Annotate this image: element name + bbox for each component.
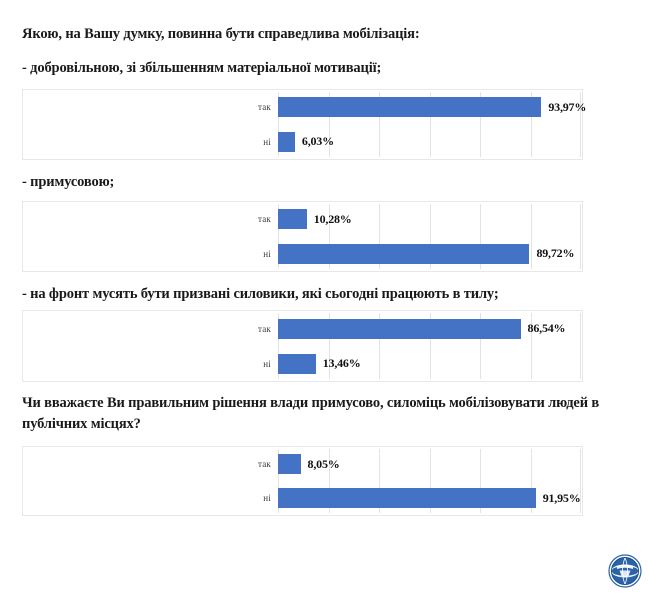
chart-3-bar-track-0: 86,54% — [278, 311, 581, 346]
chart-1: так 93,97% ні 6,03% — [22, 89, 583, 160]
organization-emblem-icon — [608, 554, 642, 588]
chart-3: так 86,54% ні 13,46% — [22, 310, 583, 382]
chart-2-value-1: 89,72% — [536, 246, 574, 261]
table-row: ні 6,03% — [23, 125, 582, 160]
table-row: ні 13,46% — [23, 346, 582, 381]
page-title: Якою, на Вашу думку, повинна бути справе… — [22, 26, 420, 43]
chart-3-plot-area: так 86,54% ні 13,46% — [23, 311, 582, 381]
question-heading-2: - примусовою; — [22, 174, 114, 191]
chart-2-value-0: 10,28% — [314, 212, 352, 227]
chart-3-bars: так 86,54% ні 13,46% — [23, 311, 582, 381]
chart-4-bar-0 — [278, 454, 301, 474]
chart-2-bar-1 — [278, 244, 529, 264]
survey-results-page: Якою, на Вашу думку, повинна бути справе… — [0, 0, 649, 600]
chart-4-bar-track-1: 91,95% — [278, 481, 581, 515]
chart-4-value-1: 91,95% — [543, 491, 581, 506]
chart-2-bar-track-0: 10,28% — [278, 202, 581, 237]
chart-2-bars: так 10,28% ні 89,72% — [23, 202, 582, 271]
chart-4-bar-track-0: 8,05% — [278, 447, 581, 481]
chart-2-category-label-0: так — [23, 214, 271, 224]
chart-1-bar-track-0: 93,97% — [278, 90, 581, 125]
chart-3-value-0: 86,54% — [528, 321, 566, 336]
chart-3-bar-track-1: 13,46% — [278, 346, 581, 381]
chart-1-category-label-0: так — [23, 102, 271, 112]
chart-1-bar-track-1: 6,03% — [278, 125, 581, 160]
chart-1-plot-area: так 93,97% ні 6,03% — [23, 90, 582, 159]
table-row: так 93,97% — [23, 90, 582, 125]
chart-1-bar-0 — [278, 97, 541, 117]
chart-3-value-1: 13,46% — [323, 356, 361, 371]
chart-4-bar-1 — [278, 488, 536, 508]
chart-4-category-label-0: так — [23, 459, 271, 469]
chart-2-bar-0 — [278, 209, 307, 229]
chart-1-value-0: 93,97% — [548, 100, 586, 115]
chart-2: так 10,28% ні 89,72% — [22, 201, 583, 272]
question-heading-4: Чи вважаєте Ви правильним рішення влади … — [22, 393, 622, 435]
chart-4-plot-area: так 8,05% ні 91,95% — [23, 447, 582, 515]
chart-3-bar-0 — [278, 319, 521, 339]
chart-4-value-0: 8,05% — [308, 457, 340, 472]
chart-1-category-label-1: ні — [23, 137, 271, 147]
table-row: ні 91,95% — [23, 481, 582, 515]
chart-2-plot-area: так 10,28% ні 89,72% — [23, 202, 582, 271]
chart-4-category-label-1: ні — [23, 493, 271, 503]
table-row: так 10,28% — [23, 202, 582, 237]
table-row: ні 89,72% — [23, 237, 582, 272]
chart-1-value-1: 6,03% — [302, 134, 334, 149]
chart-2-category-label-1: ні — [23, 249, 271, 259]
table-row: так 86,54% — [23, 311, 582, 346]
table-row: так 8,05% — [23, 447, 582, 481]
chart-1-bar-1 — [278, 132, 295, 152]
chart-3-category-label-0: так — [23, 324, 271, 334]
chart-2-bar-track-1: 89,72% — [278, 237, 581, 272]
chart-3-category-label-1: ні — [23, 359, 271, 369]
chart-4-bars: так 8,05% ні 91,95% — [23, 447, 582, 515]
question-heading-3: - на фронт мусять бути призвані силовики… — [22, 286, 499, 303]
chart-4: так 8,05% ні 91,95% — [22, 446, 583, 516]
chart-1-bars: так 93,97% ні 6,03% — [23, 90, 582, 159]
chart-3-bar-1 — [278, 354, 316, 374]
question-heading-1: - добровільною, зі збільшенням матеріаль… — [22, 60, 381, 77]
